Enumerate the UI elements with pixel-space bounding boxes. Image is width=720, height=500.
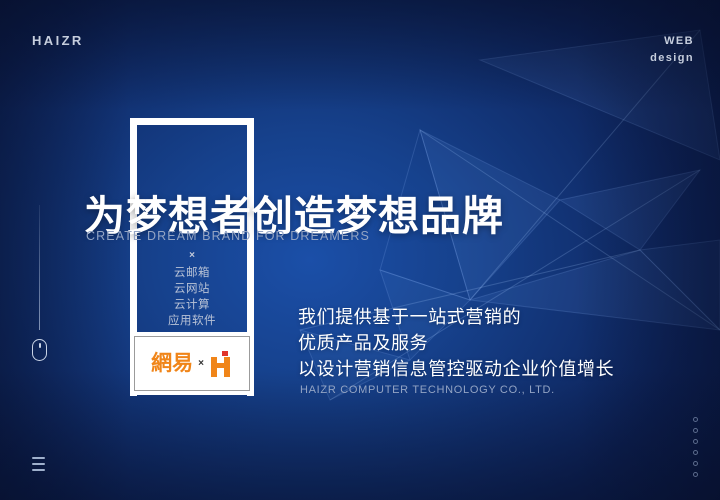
pagination-dot-5[interactable]: [693, 461, 698, 466]
header-tagline: WEB design: [650, 33, 694, 67]
brand-logo[interactable]: HAIZR: [32, 33, 84, 48]
menu-item-cloud-mail[interactable]: 云邮箱: [130, 265, 254, 281]
hamburger-menu-icon[interactable]: [32, 457, 45, 471]
pagination-dot-6[interactable]: [693, 472, 698, 477]
tagline-line-2: design: [650, 50, 694, 67]
h-stem-right: [224, 357, 230, 377]
slide-canvas: HAIZR WEB design 为梦想者创造梦想品牌 CREATE DREAM…: [0, 0, 720, 500]
scroll-track-line: [39, 205, 40, 330]
company-name: HAIZR COMPUTER TECHNOLOGY CO., LTD.: [300, 384, 555, 396]
pagination-dot-1[interactable]: [693, 417, 698, 422]
body-line-3: 以设计营销信息管控驱动企业价值增长: [298, 356, 614, 382]
hero-subheadline: CREATE DREAM BRAND FOR DREAMERS: [86, 229, 370, 243]
pagination-dots[interactable]: [693, 417, 698, 477]
body-copy: 我们提供基于一站式营销的 优质产品及服务 以设计营销信息管控驱动企业价值增长: [298, 304, 614, 382]
hamburger-line-3: [32, 469, 45, 471]
partner-logo-inner: 網易 ×: [134, 336, 250, 391]
pagination-dot-2[interactable]: [693, 428, 698, 433]
partner-logo-box[interactable]: 網易 ×: [130, 332, 254, 395]
pagination-dot-3[interactable]: [693, 439, 698, 444]
partnership-cross-icon: ×: [198, 358, 204, 369]
service-menu: 云邮箱 云网站 云计算 应用软件: [130, 265, 254, 329]
mouse-scroll-icon[interactable]: [32, 339, 47, 361]
pagination-dot-4[interactable]: [693, 450, 698, 455]
body-line-2: 优质产品及服务: [298, 330, 614, 356]
body-line-1: 我们提供基于一站式营销的: [298, 304, 614, 330]
menu-item-applications[interactable]: 应用软件: [130, 313, 254, 329]
background-vignette: [0, 0, 720, 500]
netease-logo: 網易: [151, 353, 193, 374]
menu-item-cloud-website[interactable]: 云网站: [130, 281, 254, 297]
divider-cross-icon: ×: [130, 250, 254, 261]
menu-item-cloud-computing[interactable]: 云计算: [130, 297, 254, 313]
hamburger-line-2: [32, 463, 45, 465]
haizr-flag-accent: [222, 351, 228, 356]
mouse-wheel: [39, 343, 41, 348]
tagline-line-1: WEB: [650, 33, 694, 50]
haizr-h-icon: [209, 351, 233, 377]
hamburger-line-1: [32, 457, 45, 459]
